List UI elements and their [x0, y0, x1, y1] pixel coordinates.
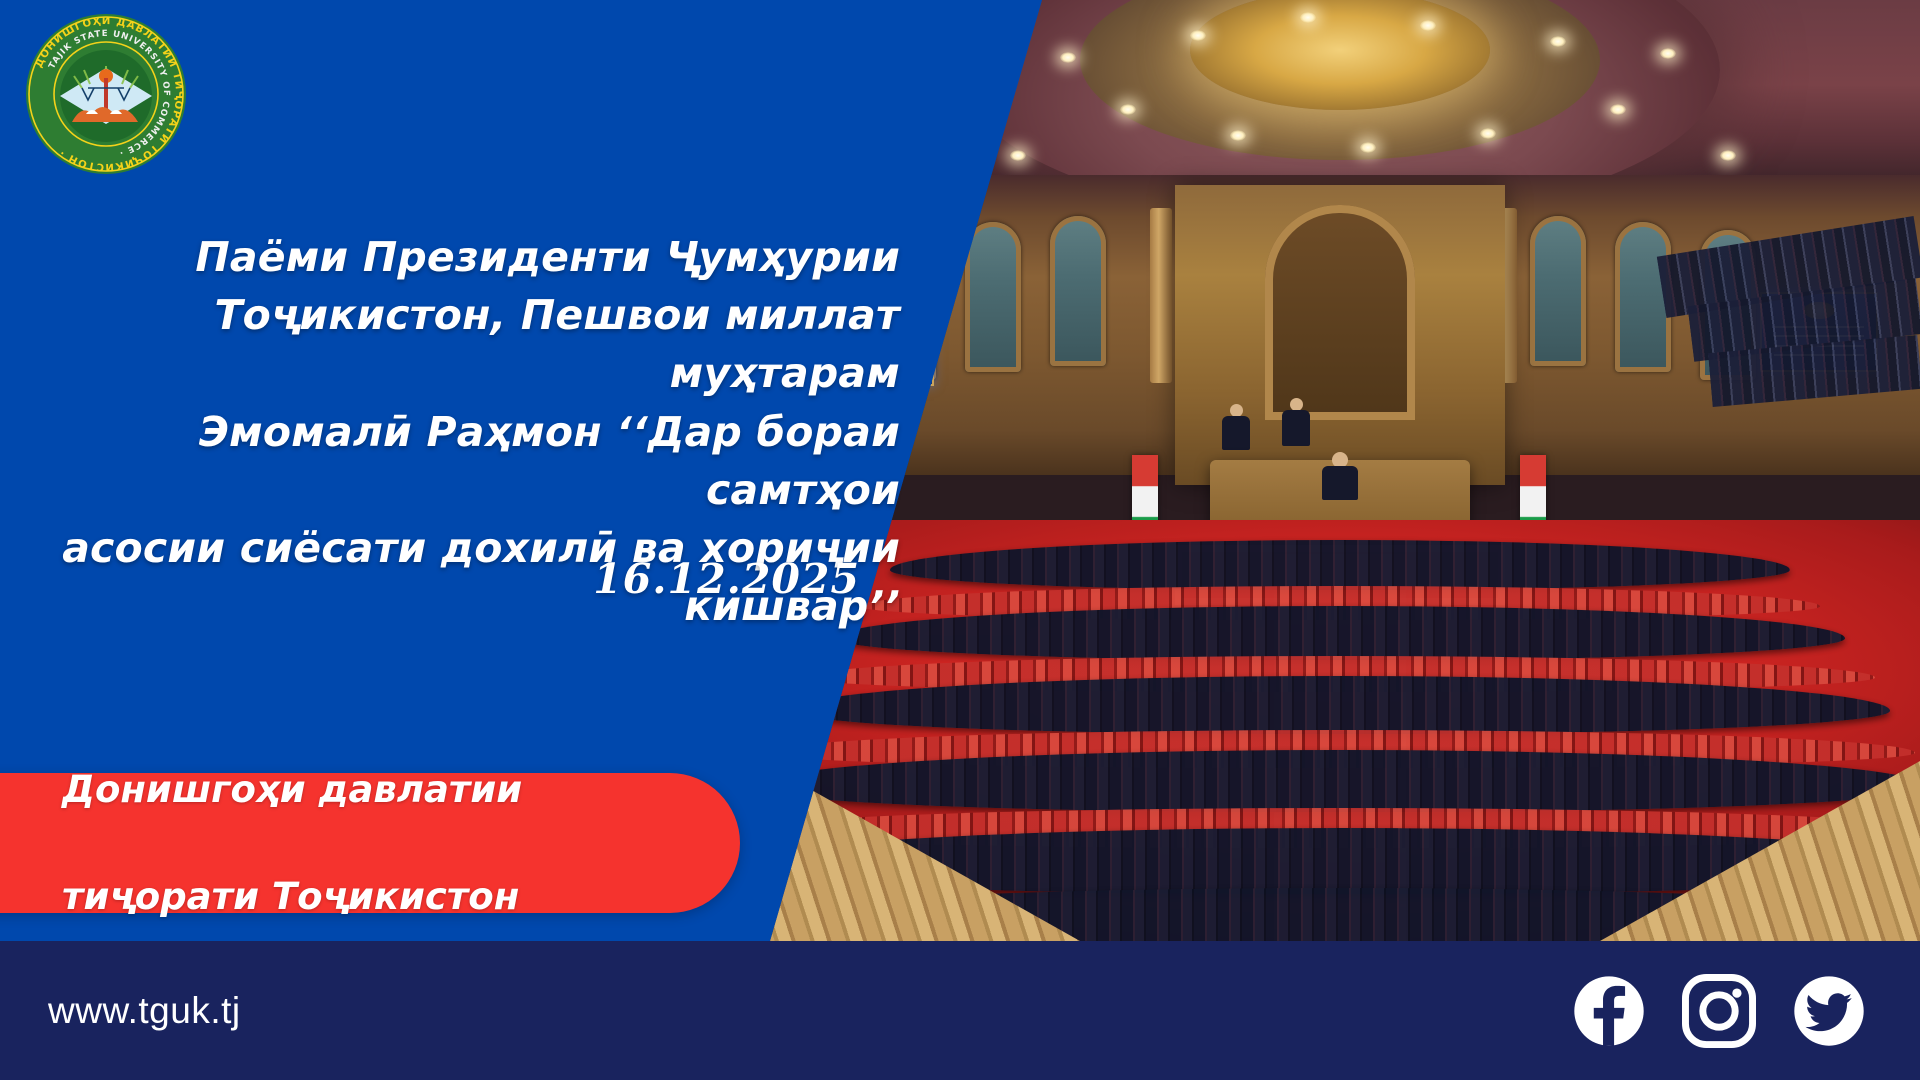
wall-arch [1530, 216, 1586, 366]
rostrum-niche [1265, 205, 1415, 420]
ceiling-light [1010, 150, 1026, 161]
website-url[interactable]: www.tguk.tj [48, 990, 241, 1032]
wall-arch [1050, 216, 1106, 366]
event-date: 16.12.2025 [60, 555, 860, 603]
presidium-person [1282, 410, 1310, 446]
organization-banner-text: Донишгоҳи давлатии тиҷорати Тоҷикистон [62, 709, 522, 977]
title-line: Паёми Президенти Ҷумҳурии [60, 228, 900, 286]
social-links [1572, 974, 1866, 1048]
organization-banner: Донишгоҳи давлатии тиҷорати Тоҷикистон [0, 773, 740, 913]
ceiling-light [1060, 52, 1076, 63]
ceiling-light [1660, 48, 1676, 59]
organization-line-2: тиҷорати Тоҷикистон [62, 870, 522, 924]
title-line: Эмомалӣ Раҳмон ‘‘Дар бораи самтҳои [60, 403, 900, 519]
ceiling-light [1720, 150, 1736, 161]
footer-bar: www.tguk.tj [0, 941, 1920, 1080]
university-logo: ДОНИШГОҲИ ДАВЛАТИИ ТИҶОРАТИ ТОҶИКИСТОН ·… [22, 10, 190, 178]
twitter-icon[interactable] [1792, 974, 1866, 1048]
poster-canvas: ДОНИШГОҲИ ДАВЛАТИИ ТИҶОРАТИ ТОҶИКИСТОН ·… [0, 0, 1920, 1080]
ceiling-light [1550, 36, 1566, 47]
ceiling-light [1360, 142, 1376, 153]
ceiling-light [1420, 20, 1436, 31]
title-line: Тоҷикистон, Пешвои миллат муҳтарам [60, 286, 900, 402]
ceiling-light [1480, 128, 1496, 139]
ceiling-light [1120, 104, 1136, 115]
presidium-person [1222, 416, 1250, 450]
facebook-icon[interactable] [1572, 974, 1646, 1048]
wall-pillar [1150, 208, 1172, 383]
ceiling-light [1230, 130, 1246, 141]
ceiling-light [1300, 12, 1316, 23]
wall-arch [965, 222, 1021, 372]
organization-line-1: Донишгоҳи давлатии [62, 763, 522, 817]
instagram-icon[interactable] [1682, 974, 1756, 1048]
ceiling-light [1610, 104, 1626, 115]
speaker-person [1322, 466, 1358, 500]
ceiling-light [1190, 30, 1206, 41]
